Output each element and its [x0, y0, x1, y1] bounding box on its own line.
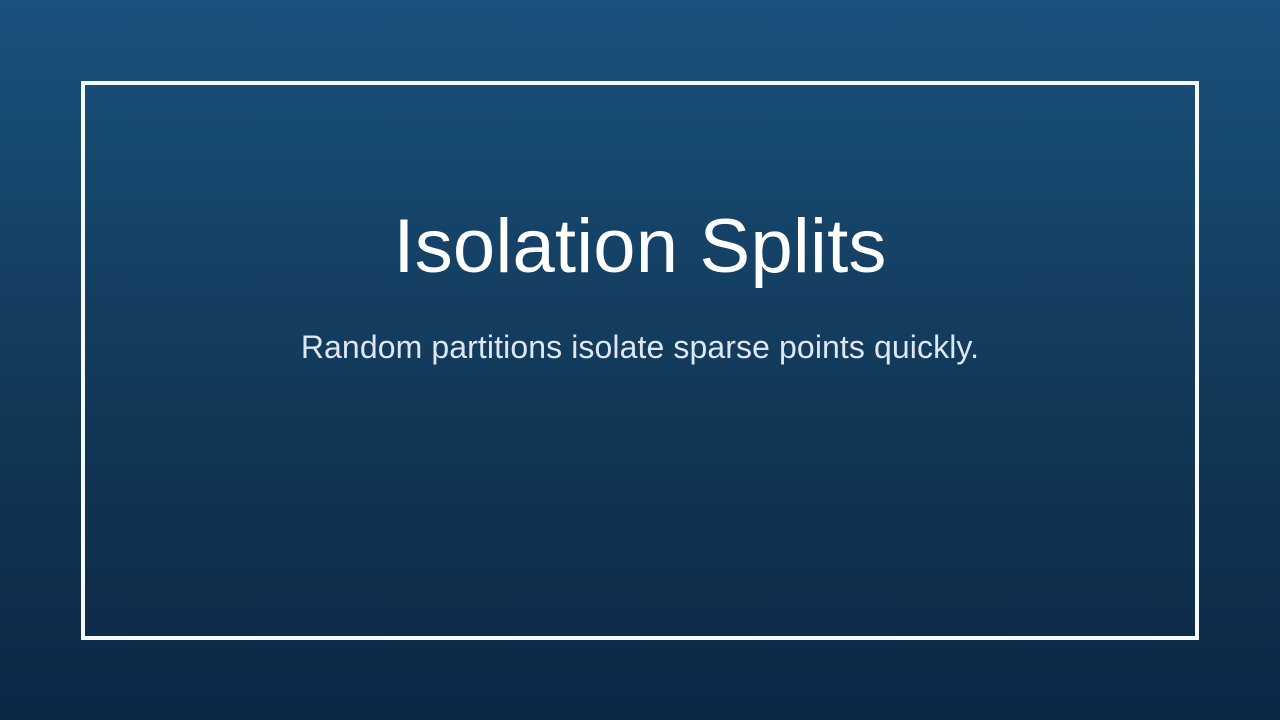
slide-subtitle: Random partitions isolate sparse points …	[85, 292, 1195, 367]
slide-frame-border: Isolation Splits Random partitions isola…	[81, 81, 1199, 640]
slide-text-block: Isolation Splits Random partitions isola…	[85, 202, 1195, 367]
page-title: Isolation Splits	[85, 202, 1195, 292]
title-slide: Isolation Splits Random partitions isola…	[0, 0, 1280, 720]
